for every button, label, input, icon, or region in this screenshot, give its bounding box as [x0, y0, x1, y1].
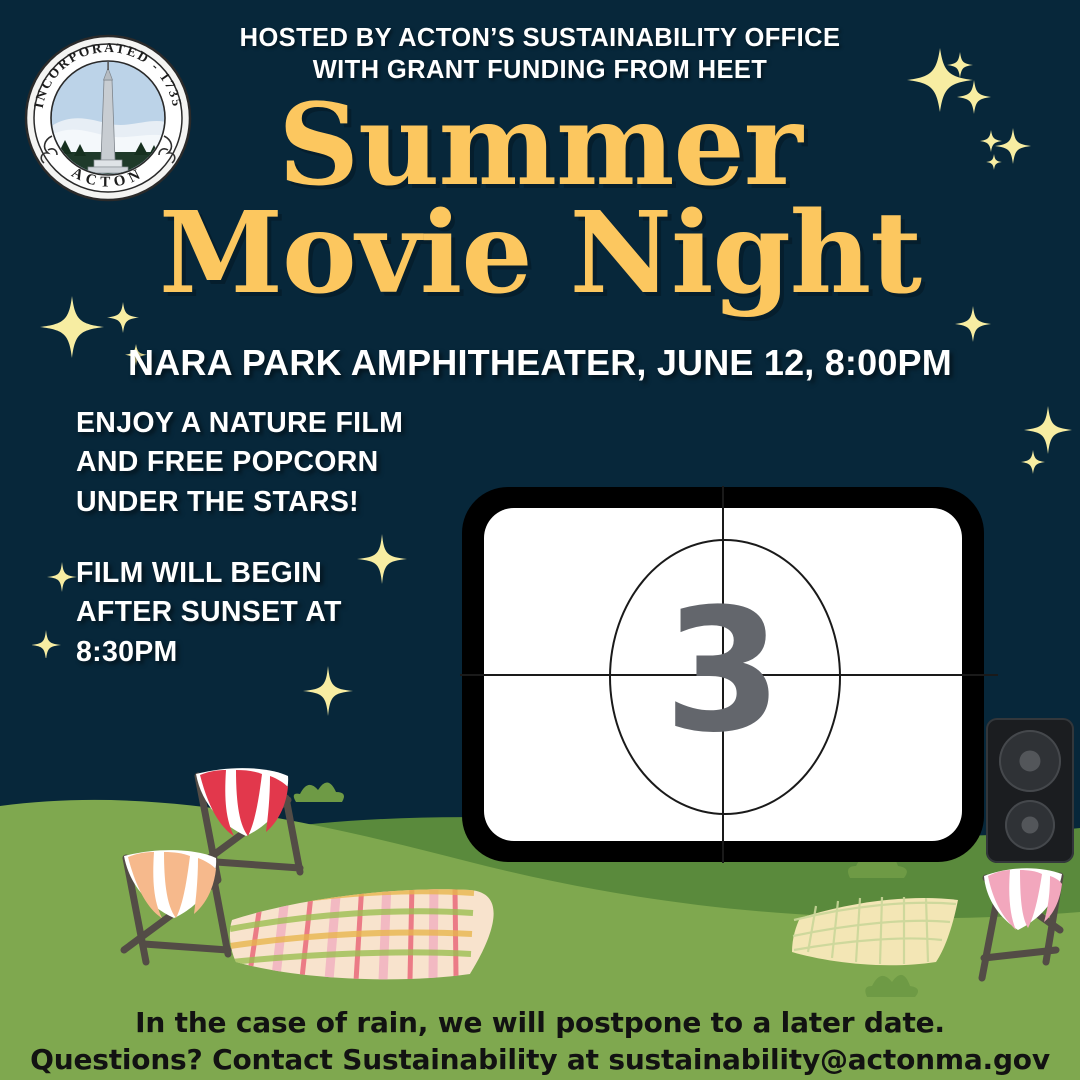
sparkle-icon — [352, 528, 412, 594]
blurb-line-1: ENJOY A NATURE FILM — [76, 404, 403, 443]
title-line-2: Movie Night — [0, 200, 1080, 308]
venue-datetime: NARA PARK AMPHITHEATER, JUNE 12, 8:00PM — [0, 342, 1080, 384]
sunset-line-3: 8:30PM — [76, 633, 342, 672]
title-line-1: Summer — [0, 92, 1080, 200]
event-poster: INCORPORATED - 1735 ACTON — [0, 0, 1080, 1080]
footer-line-1: In the case of rain, we will postpone to… — [0, 1005, 1080, 1042]
sparkle-icon — [948, 292, 1080, 492]
screen-surface: 3 — [484, 508, 962, 841]
picnic-blanket-cream — [792, 897, 958, 965]
blurb-line-2: AND FREE POPCORN — [76, 443, 403, 482]
speaker-driver-large — [999, 730, 1061, 792]
projector-screen: 3 — [462, 487, 984, 862]
sunset-line-2: AFTER SUNSET AT — [76, 593, 342, 632]
countdown-number: 3 — [664, 586, 782, 756]
speaker-tower — [986, 718, 1074, 863]
blurb-line-3: UNDER THE STARS! — [76, 483, 403, 522]
sunset-line-1: FILM WILL BEGIN — [76, 554, 342, 593]
footer-notice: In the case of rain, we will postpone to… — [0, 1005, 1080, 1079]
speaker-driver-small — [1005, 800, 1055, 850]
footer-line-2: Questions? Contact Sustainability at sus… — [0, 1042, 1080, 1079]
hosted-line-1: HOSTED BY ACTON’S SUSTAINABILITY OFFICE — [0, 22, 1080, 54]
sunset-note: FILM WILL BEGIN AFTER SUNSET AT 8:30PM — [76, 554, 342, 672]
page-title: Summer Movie Night — [0, 92, 1080, 307]
hosted-by-header: HOSTED BY ACTON’S SUSTAINABILITY OFFICE … — [0, 22, 1080, 86]
event-description: ENJOY A NATURE FILM AND FREE POPCORN UND… — [76, 404, 403, 522]
